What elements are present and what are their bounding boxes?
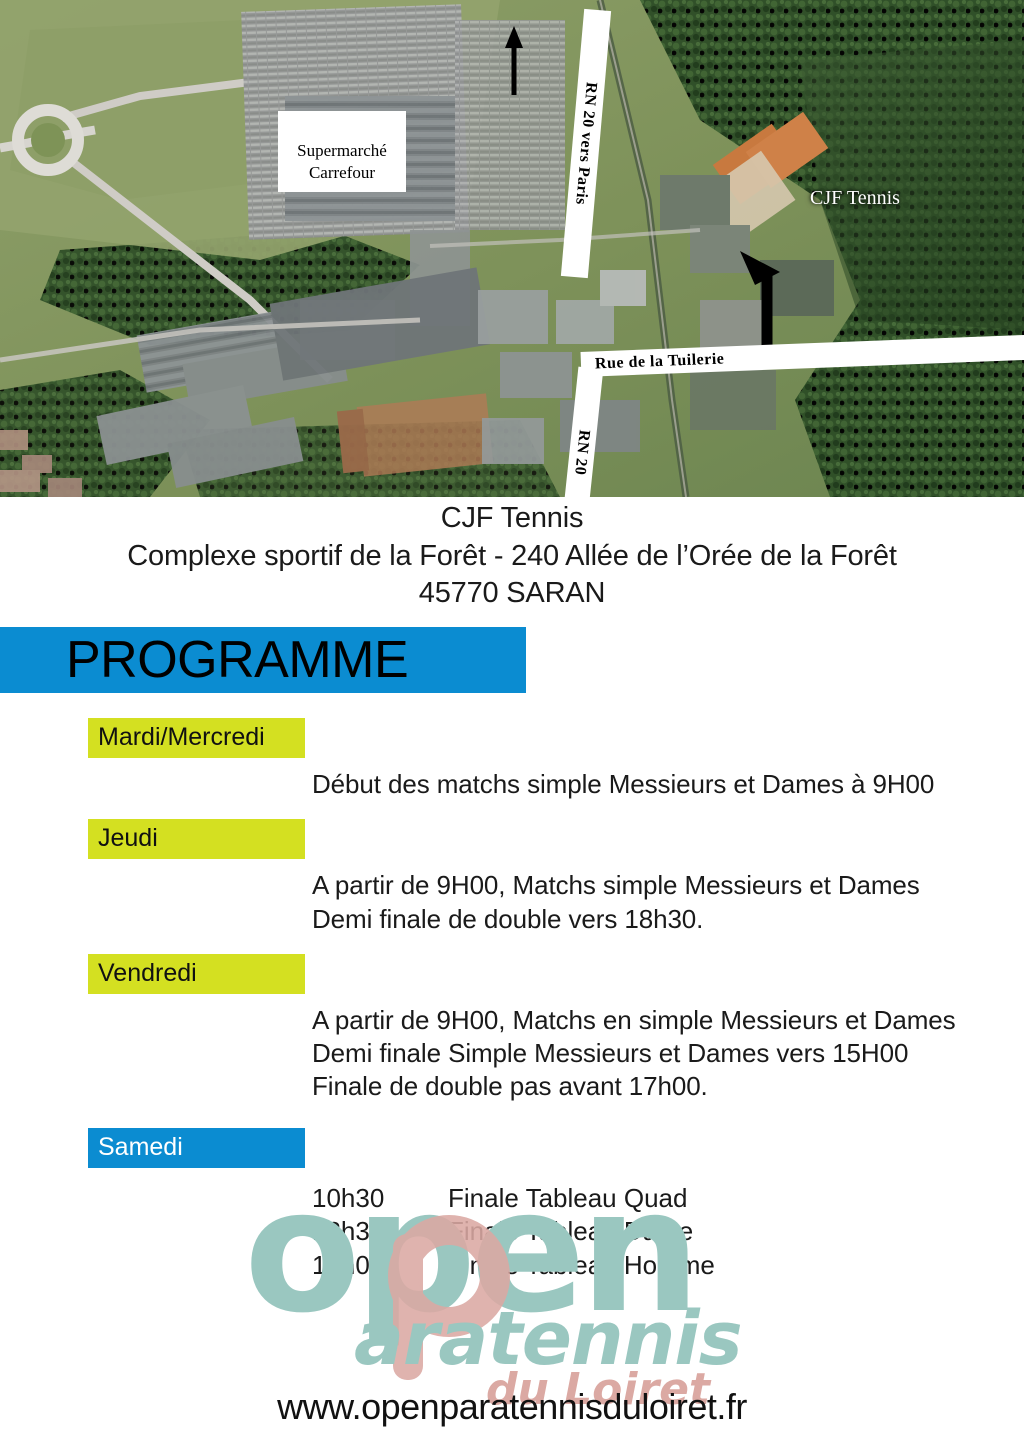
day-detail-jeudi: A partir de 9H00, Matchs simple Messieur… <box>312 869 1024 936</box>
detail-line: Début des matchs simple Messieurs et Dam… <box>312 768 1024 801</box>
venue-address: CJF Tennis Complexe sportif de la Forêt … <box>0 500 1024 613</box>
spacer <box>0 1104 1024 1128</box>
logo-artwork: open aratennis du Loiret <box>236 1178 796 1410</box>
day-label-samedi: Samedi <box>88 1128 305 1168</box>
venue-city: 45770 SARAN <box>0 575 1024 613</box>
day-detail-vendredi: A partir de 9H00, Matchs en simple Messi… <box>312 1004 1024 1104</box>
day-detail-mardi-mercredi: Début des matchs simple Messieurs et Dam… <box>312 768 1024 801</box>
spacer <box>0 936 1024 954</box>
detail-line: Finale de double pas avant 17h00. <box>312 1070 1024 1103</box>
spacer <box>0 801 1024 819</box>
programme-banner: PROGRAMME <box>0 627 526 693</box>
aerial-map: RN 20 vers Paris RN 20 Rue de la Tuileri… <box>0 0 1024 497</box>
road-label-rue-de-la-tuilerie-text: Rue de la Tuilerie <box>595 350 725 373</box>
day-label-mardi-mercredi: Mardi/Mercredi <box>88 718 305 758</box>
detail-line: A partir de 9H00, Matchs simple Messieur… <box>312 869 1024 902</box>
detail-line: Demi finale de double vers 18h30. <box>312 903 1024 936</box>
day-block-vendredi: Vendredi A partir de 9H00, Matchs en sim… <box>0 954 1024 1104</box>
map-label-venue-text: CJF Tennis <box>810 187 900 209</box>
programme-title: PROGRAMME <box>0 634 408 686</box>
map-label-supermarket-text: Supermarché Carrefour <box>297 141 387 182</box>
day-label-jeudi: Jeudi <box>88 819 305 859</box>
website-url[interactable]: www.openparatennisduloiret.fr <box>0 1389 1024 1425</box>
open-paratennis-logo: open aratennis du Loiret <box>236 1178 796 1410</box>
map-imagery <box>0 0 1024 497</box>
day-block-mardi-mercredi: Mardi/Mercredi Début des matchs simple M… <box>0 718 1024 801</box>
day-block-jeudi: Jeudi A partir de 9H00, Matchs simple Me… <box>0 819 1024 936</box>
poster-page: RN 20 vers Paris RN 20 Rue de la Tuileri… <box>0 0 1024 1453</box>
venue-street: Complexe sportif de la Forêt - 240 Allée… <box>0 538 1024 576</box>
day-label-vendredi: Vendredi <box>88 954 305 994</box>
detail-line: Demi finale Simple Messieurs et Dames ve… <box>312 1037 1024 1070</box>
map-label-venue: CJF Tennis <box>810 186 900 212</box>
venue-name: CJF Tennis <box>0 500 1024 538</box>
website-url-text: www.openparatennisduloiret.fr <box>277 1386 747 1427</box>
map-label-supermarket: Supermarché Carrefour <box>278 111 406 192</box>
road-label-rn20-text: RN 20 <box>571 429 594 476</box>
detail-line: A partir de 9H00, Matchs en simple Messi… <box>312 1004 1024 1037</box>
